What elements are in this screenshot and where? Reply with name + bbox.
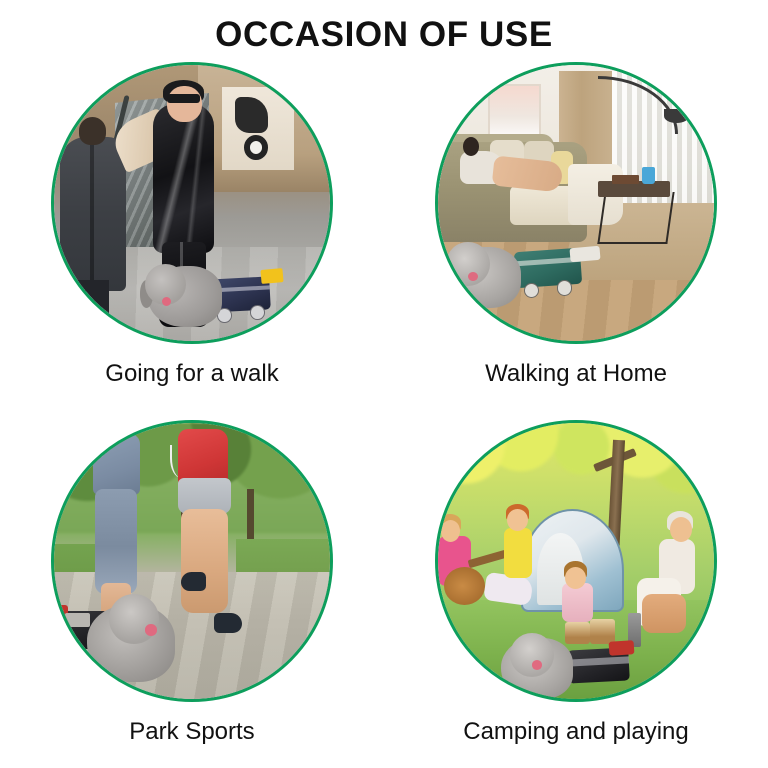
cart-pad xyxy=(570,246,601,262)
occasion-card-walking-at-home: Walking at Home xyxy=(384,62,768,420)
adult-right-head xyxy=(670,517,692,542)
scene-camping xyxy=(438,423,714,699)
dog-tongue xyxy=(145,624,157,635)
boy-head xyxy=(507,509,528,531)
girl-top xyxy=(562,583,592,622)
jogger-two-shoe xyxy=(181,572,206,591)
occasion-caption-camping-and-playing: Camping and playing xyxy=(463,718,688,746)
dog-head xyxy=(510,633,554,677)
lamp-shade xyxy=(664,109,689,123)
book xyxy=(612,175,640,183)
scene-living-room xyxy=(438,65,714,341)
mall-poster xyxy=(222,87,294,170)
sunglasses-icon xyxy=(167,94,200,103)
jogger-two-shoe xyxy=(214,613,242,632)
guitarist-head xyxy=(441,520,460,542)
occasion-caption-going-for-a-walk: Going for a walk xyxy=(105,360,278,388)
jogger-one-top xyxy=(93,434,140,495)
girl-head xyxy=(565,567,586,589)
jogger-two-legs xyxy=(181,509,228,614)
dog-head xyxy=(109,594,159,644)
product-infographic-page: OCCASION OF USE xyxy=(0,0,768,768)
cart-accent xyxy=(260,268,283,284)
scene-mall-walk xyxy=(54,65,330,341)
occasion-card-camping-and-playing: Camping and playing xyxy=(384,420,768,768)
bystander-head xyxy=(79,117,107,145)
cart-wheel xyxy=(250,305,265,320)
occasion-grid: Going for a walk xyxy=(0,62,768,768)
photo-circle-park-sports xyxy=(51,420,333,702)
leather-highlight xyxy=(153,104,214,253)
bystander-shoe xyxy=(68,313,96,327)
photo-circle-going-for-a-walk xyxy=(51,62,333,344)
dog-tongue xyxy=(532,660,542,669)
cart-wheel xyxy=(557,280,572,295)
boy-shirt xyxy=(504,528,532,578)
jogger-one-leggings xyxy=(95,489,136,594)
cart-mesh-panel xyxy=(65,613,90,627)
page-title: OCCASION OF USE xyxy=(0,14,768,56)
seated-adult-legs xyxy=(642,594,686,633)
cart-accent xyxy=(609,640,635,655)
drinking-cup xyxy=(642,167,654,184)
bystander-coat xyxy=(60,137,126,292)
guitar-body xyxy=(444,567,485,606)
bongo-drum xyxy=(565,622,590,644)
occasion-caption-park-sports: Park Sports xyxy=(129,718,254,746)
bongo-drum xyxy=(590,619,615,644)
side-table-frame xyxy=(597,192,674,244)
occasion-card-going-for-a-walk: Going for a walk xyxy=(0,62,384,420)
photo-circle-walking-at-home xyxy=(435,62,717,344)
scene-park-jog xyxy=(54,423,330,699)
cart-wheel xyxy=(524,283,539,298)
occasion-card-park-sports: Park Sports xyxy=(0,420,384,768)
photo-circle-camping-and-playing xyxy=(435,420,717,702)
woman-leather-jacket xyxy=(153,104,214,253)
occasion-caption-walking-at-home: Walking at Home xyxy=(485,360,667,388)
woman-head xyxy=(167,86,202,122)
